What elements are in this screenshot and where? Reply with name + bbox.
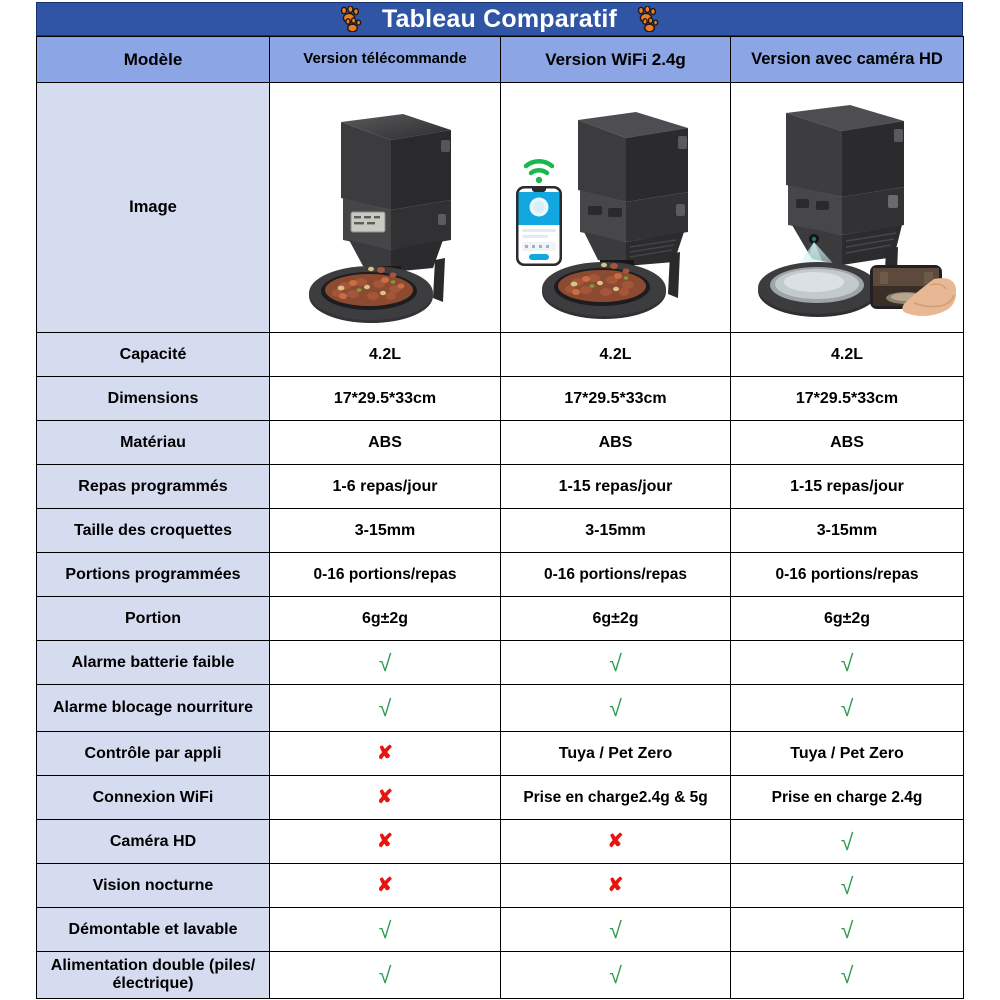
- table-header-row: Modèle Version télécommande Version WiFi…: [37, 37, 964, 83]
- cell-night-vision-camera: √: [731, 864, 964, 908]
- check-mark-icon: √: [841, 831, 854, 854]
- cell-capacity-remote: 4.2L: [270, 333, 501, 377]
- table-row: Démontable et lavable √ √ √: [37, 908, 964, 952]
- cell-material-remote: ABS: [270, 421, 501, 465]
- cell-battery-alarm-wifi: √: [501, 641, 731, 685]
- table-row: Alarme batterie faible √ √ √: [37, 641, 964, 685]
- check-mark-icon: √: [609, 964, 622, 987]
- wifi-icon: [526, 161, 552, 183]
- column-header-camera: Version avec caméra HD: [731, 37, 964, 83]
- paw-print-icon: [334, 6, 368, 32]
- cell-night-vision-wifi: ✘: [501, 864, 731, 908]
- cell-portions-camera: 0-16 portions/repas: [731, 553, 964, 597]
- cell-material-camera: ABS: [731, 421, 964, 465]
- check-mark-icon: √: [379, 697, 392, 720]
- table-row: Taille des croquettes 3-15mm 3-15mm 3-15…: [37, 509, 964, 553]
- cell-kibble-camera: 3-15mm: [731, 509, 964, 553]
- cell-hd-camera-remote: ✘: [270, 820, 501, 864]
- cell-night-vision-remote: ✘: [270, 864, 501, 908]
- cell-dual-power-wifi: √: [501, 952, 731, 999]
- cell-portions-wifi: 0-16 portions/repas: [501, 553, 731, 597]
- cross-mark-icon: ✘: [377, 788, 393, 807]
- table-row: Image: [37, 83, 964, 333]
- check-mark-icon: √: [841, 652, 854, 675]
- cell-jam-alarm-wifi: √: [501, 685, 731, 732]
- cell-washable-camera: √: [731, 908, 964, 952]
- cell-battery-alarm-camera: √: [731, 641, 964, 685]
- column-header-wifi: Version WiFi 2.4g: [501, 37, 731, 83]
- cell-app-control-wifi: Tuya / Pet Zero: [501, 732, 731, 776]
- page-title: Tableau Comparatif: [382, 5, 617, 34]
- row-label-app-control: Contrôle par appli: [37, 732, 270, 776]
- cell-capacity-wifi: 4.2L: [501, 333, 731, 377]
- row-label-low-battery-alarm: Alarme batterie faible: [37, 641, 270, 685]
- row-label-dual-power: Alimentation double (piles/électrique): [37, 952, 270, 999]
- cell-battery-alarm-remote: √: [270, 641, 501, 685]
- column-header-remote: Version télécommande: [270, 37, 501, 83]
- table-title-bar: Tableau Comparatif: [36, 2, 963, 36]
- cell-portions-remote: 0-16 portions/repas: [270, 553, 501, 597]
- table-row: Vision nocturne ✘ ✘ √: [37, 864, 964, 908]
- cell-portion-camera: 6g±2g: [731, 597, 964, 641]
- cell-kibble-wifi: 3-15mm: [501, 509, 731, 553]
- cross-mark-icon: ✘: [377, 832, 393, 851]
- cell-capacity-camera: 4.2L: [731, 333, 964, 377]
- check-mark-icon: √: [841, 964, 854, 987]
- row-label-dimensions: Dimensions: [37, 377, 270, 421]
- comparison-table-page: Tableau Comparatif Mod: [0, 0, 1000, 1000]
- check-mark-icon: √: [379, 919, 392, 942]
- cell-wifi-connection-remote: ✘: [270, 776, 501, 820]
- check-mark-icon: √: [609, 697, 622, 720]
- row-label-portion: Portion: [37, 597, 270, 641]
- cell-hd-camera-wifi: ✘: [501, 820, 731, 864]
- check-mark-icon: √: [609, 919, 622, 942]
- pet-feeder-wifi-image: [501, 83, 731, 333]
- paw-print-icon: [631, 6, 665, 32]
- table-row: Connexion WiFi ✘ Prise en charge2.4g & 5…: [37, 776, 964, 820]
- check-mark-icon: √: [379, 964, 392, 987]
- check-mark-icon: √: [841, 697, 854, 720]
- row-label-night-vision: Vision nocturne: [37, 864, 270, 908]
- check-mark-icon: √: [841, 875, 854, 898]
- cell-dimensions-camera: 17*29.5*33cm: [731, 377, 964, 421]
- cell-meals-remote: 1-6 repas/jour: [270, 465, 501, 509]
- pet-feeder-basic-image: [270, 83, 501, 333]
- cell-wifi-connection-wifi: Prise en charge2.4g & 5g: [501, 776, 731, 820]
- row-label-food-jam-alarm: Alarme blocage nourriture: [37, 685, 270, 732]
- check-mark-icon: √: [609, 652, 622, 675]
- cell-app-control-remote: ✘: [270, 732, 501, 776]
- pet-feeder-camera-image: [731, 83, 964, 333]
- cell-dimensions-remote: 17*29.5*33cm: [270, 377, 501, 421]
- cell-wifi-connection-camera: Prise en charge 2.4g: [731, 776, 964, 820]
- cell-hd-camera-camera: √: [731, 820, 964, 864]
- table-row: Alimentation double (piles/électrique) √…: [37, 952, 964, 999]
- cell-washable-remote: √: [270, 908, 501, 952]
- row-label-scheduled-meals: Repas programmés: [37, 465, 270, 509]
- row-label-image: Image: [37, 83, 270, 333]
- table-row: Portions programmées 0-16 portions/repas…: [37, 553, 964, 597]
- table-row: Alarme blocage nourriture √ √ √: [37, 685, 964, 732]
- table-row: Portion 6g±2g 6g±2g 6g±2g: [37, 597, 964, 641]
- row-label-kibble-size: Taille des croquettes: [37, 509, 270, 553]
- table-row: Contrôle par appli ✘ Tuya / Pet Zero Tuy…: [37, 732, 964, 776]
- row-label-scheduled-portions: Portions programmées: [37, 553, 270, 597]
- cross-mark-icon: ✘: [608, 876, 624, 895]
- cell-jam-alarm-camera: √: [731, 685, 964, 732]
- cell-dual-power-remote: √: [270, 952, 501, 999]
- row-label-wifi-connection: Connexion WiFi: [37, 776, 270, 820]
- cell-washable-wifi: √: [501, 908, 731, 952]
- cell-dimensions-wifi: 17*29.5*33cm: [501, 377, 731, 421]
- table-row: Caméra HD ✘ ✘ √: [37, 820, 964, 864]
- comparison-table: Modèle Version télécommande Version WiFi…: [36, 36, 964, 999]
- cell-app-control-camera: Tuya / Pet Zero: [731, 732, 964, 776]
- cross-mark-icon: ✘: [608, 832, 624, 851]
- cross-mark-icon: ✘: [377, 876, 393, 895]
- cell-jam-alarm-remote: √: [270, 685, 501, 732]
- cell-portion-remote: 6g±2g: [270, 597, 501, 641]
- cell-portion-wifi: 6g±2g: [501, 597, 731, 641]
- cell-dual-power-camera: √: [731, 952, 964, 999]
- check-mark-icon: √: [379, 652, 392, 675]
- cell-kibble-remote: 3-15mm: [270, 509, 501, 553]
- row-label-material: Matériau: [37, 421, 270, 465]
- column-header-model: Modèle: [37, 37, 270, 83]
- cell-meals-wifi: 1-15 repas/jour: [501, 465, 731, 509]
- row-label-capacity: Capacité: [37, 333, 270, 377]
- cell-material-wifi: ABS: [501, 421, 731, 465]
- row-label-hd-camera: Caméra HD: [37, 820, 270, 864]
- row-label-removable-washable: Démontable et lavable: [37, 908, 270, 952]
- table-row: Repas programmés 1-6 repas/jour 1-15 rep…: [37, 465, 964, 509]
- table-row: Capacité 4.2L 4.2L 4.2L: [37, 333, 964, 377]
- cross-mark-icon: ✘: [377, 744, 393, 763]
- check-mark-icon: √: [841, 919, 854, 942]
- table-row: Dimensions 17*29.5*33cm 17*29.5*33cm 17*…: [37, 377, 964, 421]
- table-row: Matériau ABS ABS ABS: [37, 421, 964, 465]
- cell-meals-camera: 1-15 repas/jour: [731, 465, 964, 509]
